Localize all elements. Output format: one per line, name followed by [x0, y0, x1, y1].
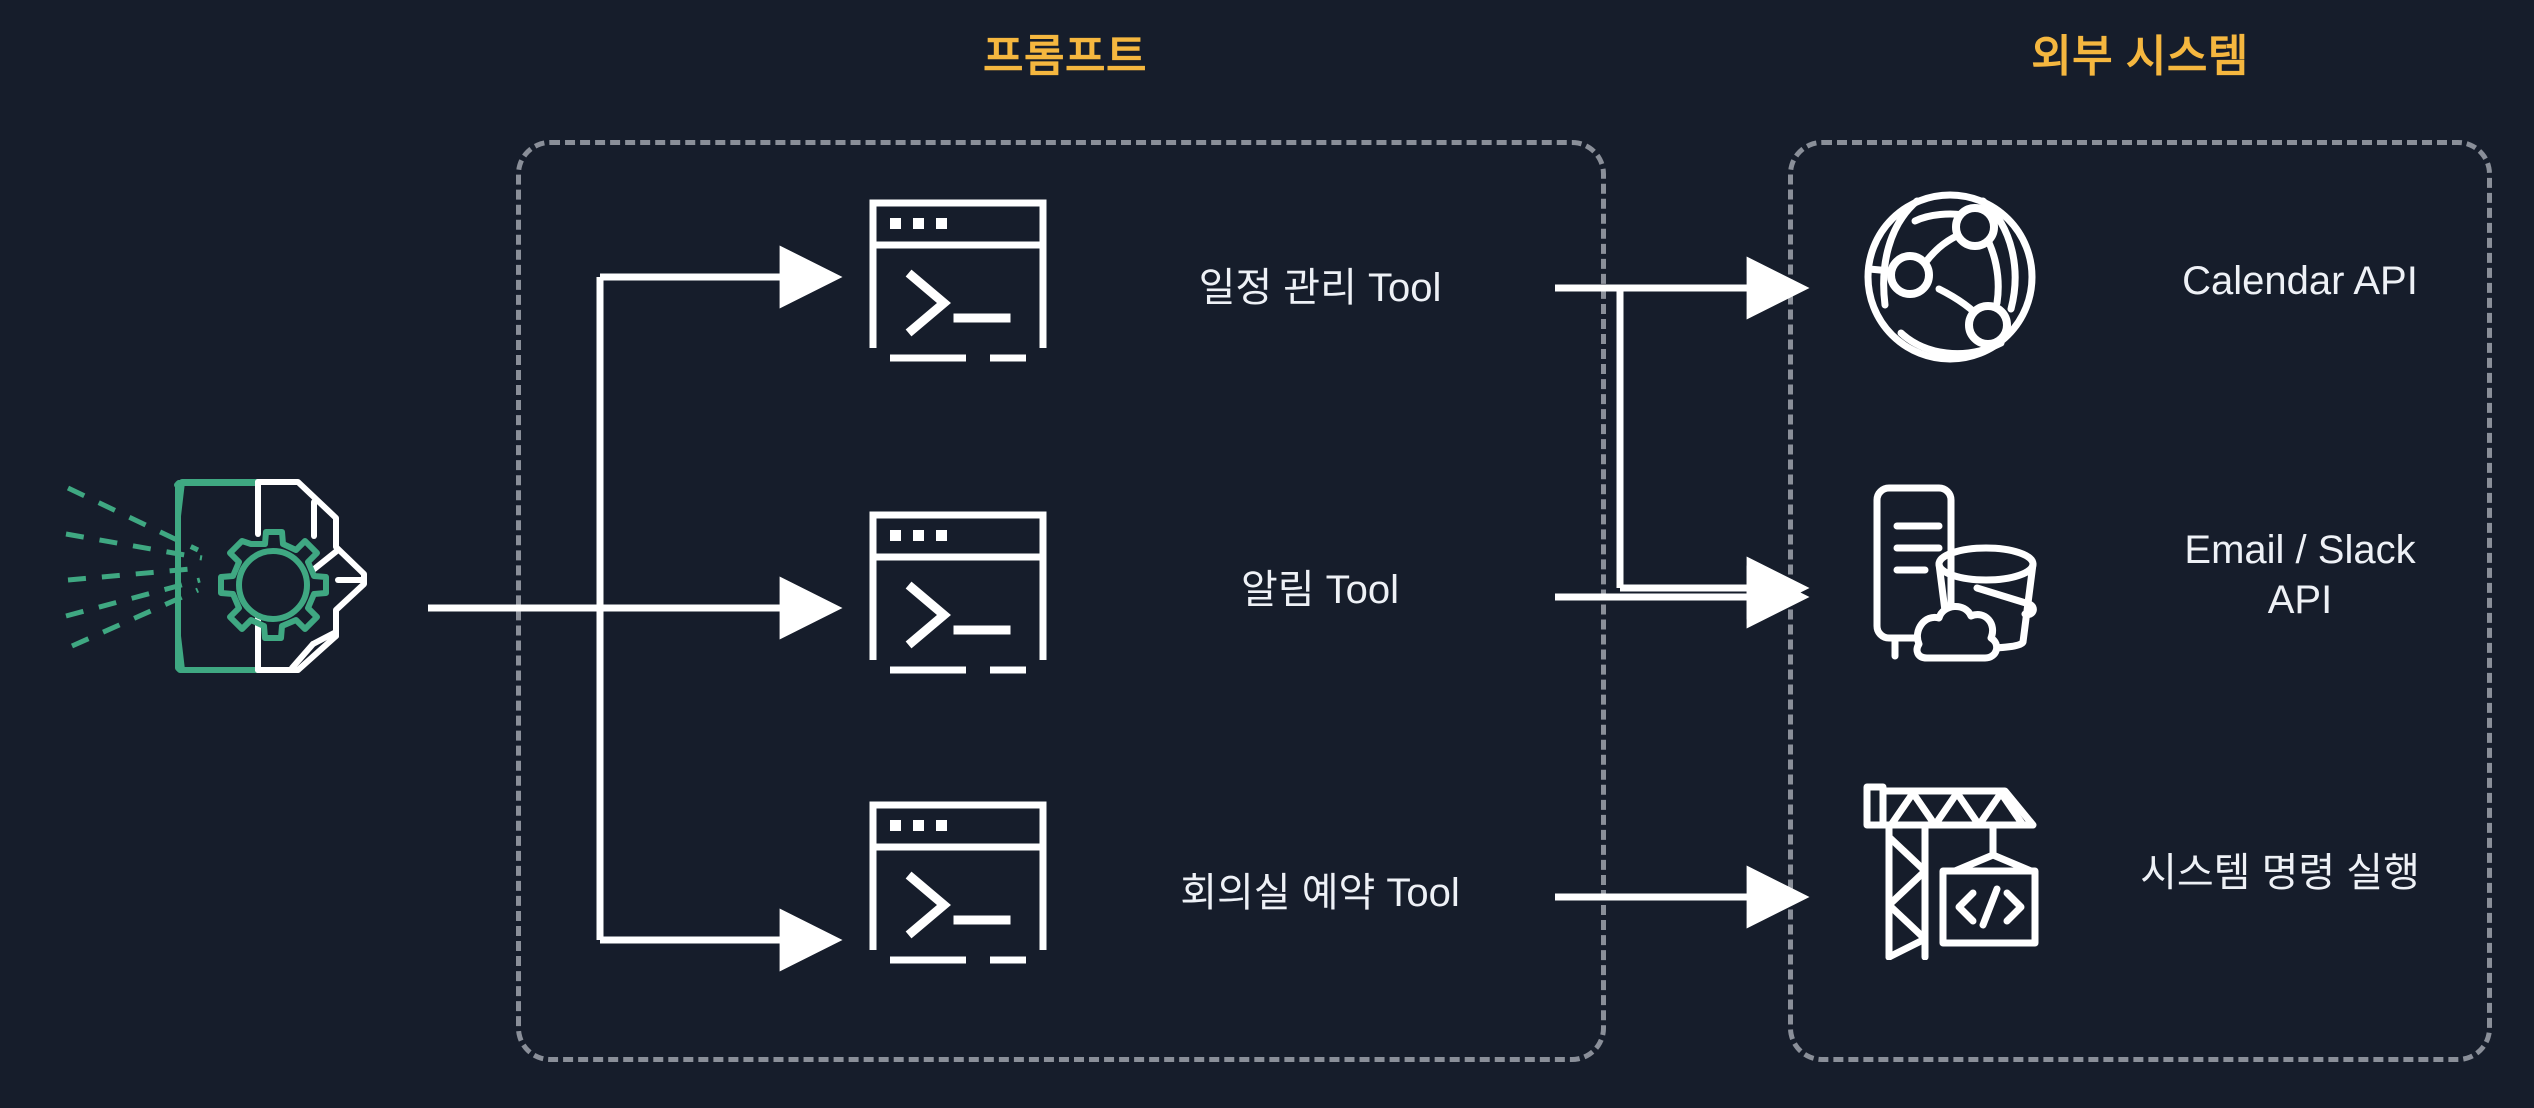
ext-label-email-slack-line2: API: [2268, 578, 2332, 622]
globe-network-icon: [1855, 185, 2045, 370]
ext-label-email-slack: Email / Slack API: [2085, 525, 2515, 625]
section-title-prompt: 프롬프트: [815, 20, 1315, 84]
tool-label-room: 회의실 예약 Tool: [1040, 860, 1600, 918]
crane-code-icon: [1855, 775, 2045, 960]
agent-node: 에이전트: [30, 440, 430, 800]
ext-label-system-command: 시스템 명령 실행: [2065, 848, 2495, 898]
diagram-canvas: 프롬프트 외부 시스템: [0, 0, 2534, 1108]
ext-label-calendar-line1: Calendar API: [2182, 259, 2418, 303]
tool-label-schedule: 일정 관리 Tool: [1040, 255, 1600, 313]
terminal-icon: [868, 198, 1048, 363]
brain-gear-hexagon-icon: [30, 440, 430, 710]
server-bucket-cloud-icon: [1855, 478, 2045, 663]
ext-label-email-slack-line1: Email / Slack: [2184, 528, 2415, 572]
terminal-icon: [868, 800, 1048, 965]
ext-label-system-command-line1: 시스템 명령 실행: [2140, 851, 2420, 895]
ext-label-calendar: Calendar API: [2085, 256, 2515, 306]
tool-label-notify: 알림 Tool: [1040, 557, 1600, 615]
terminal-icon: [868, 510, 1048, 675]
section-title-external: 외부 시스템: [1840, 20, 2440, 84]
